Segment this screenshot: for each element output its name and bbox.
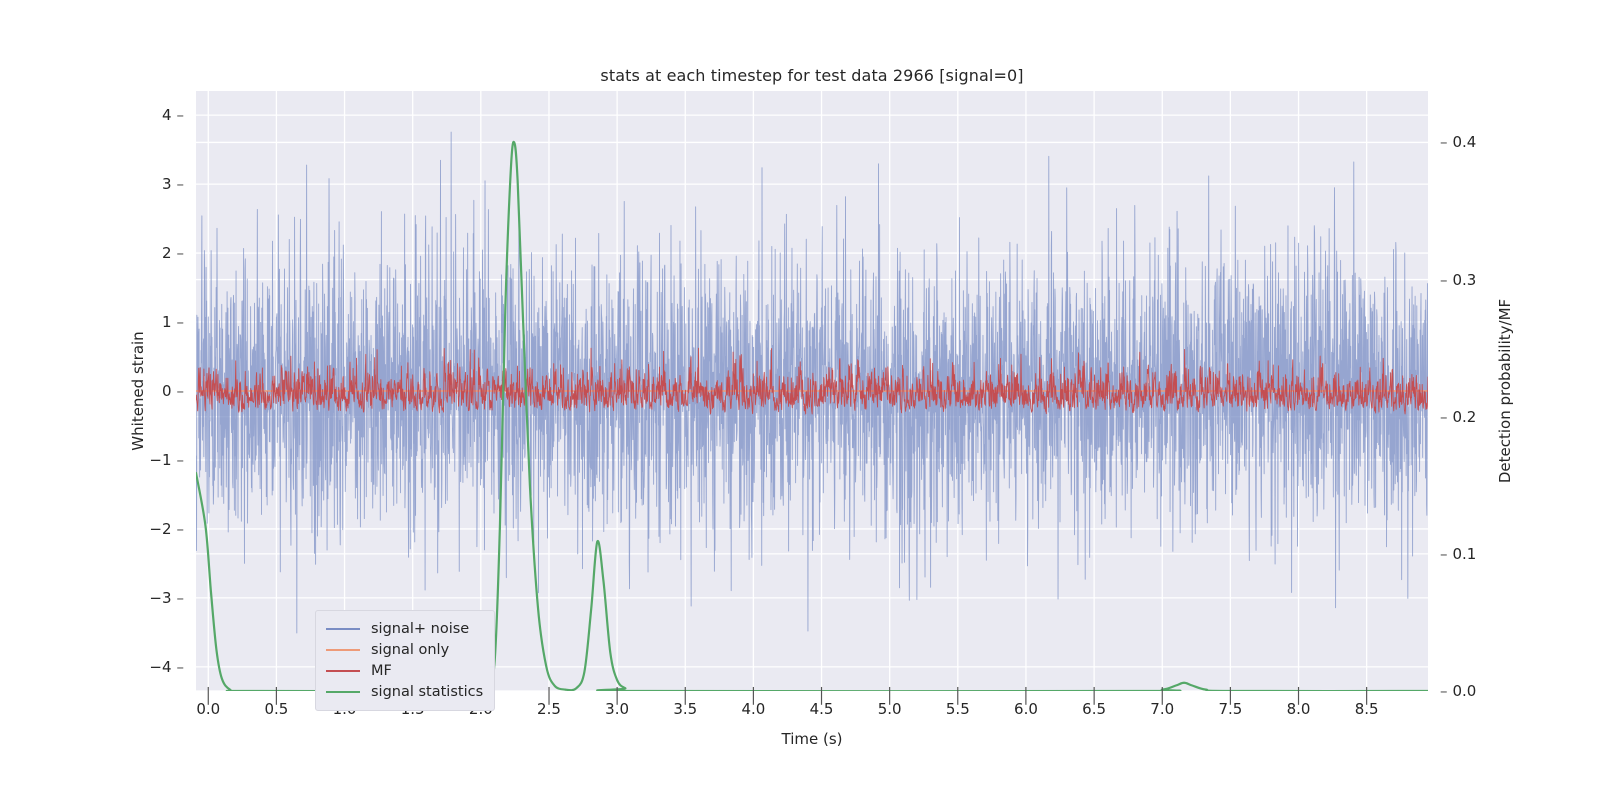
plot-svg	[196, 91, 1428, 691]
y-axis-right-label: Detection probability/MF	[1496, 299, 1514, 483]
y-axis-right-tick: –0.1	[1440, 545, 1500, 563]
legend-item[interactable]: signal+ noise	[326, 618, 482, 639]
x-axis-tick: │7.5	[1218, 693, 1242, 718]
legend-item[interactable]: signal only	[326, 639, 482, 660]
x-axis-tick: │0.0	[196, 693, 220, 718]
x-axis-tick: │4.0	[741, 693, 765, 718]
x-axis-tick: │5.5	[946, 693, 970, 718]
y-axis-left-tick: 2–	[124, 244, 184, 262]
x-axis-label: Time (s)	[196, 730, 1428, 748]
y-axis-left-label: Whitened strain	[129, 331, 147, 450]
y-axis-left-tick: −4–	[124, 658, 184, 676]
chart-legend[interactable]: signal+ noisesignal onlyMFsignal statist…	[315, 610, 495, 711]
y-axis-left-tick: 4–	[124, 106, 184, 124]
legend-label: signal only	[371, 642, 449, 658]
y-axis-left-tick: 3–	[124, 175, 184, 193]
x-axis-tick: │3.0	[605, 693, 629, 718]
x-axis-tick: │6.5	[1082, 693, 1106, 718]
x-axis-tick: │7.0	[1150, 693, 1174, 718]
page-title: stats at each timestep for test data 296…	[196, 66, 1428, 85]
y-axis-right-tick: –0.2	[1440, 408, 1500, 426]
y-axis-right-tick: –0.4	[1440, 133, 1500, 151]
y-axis-left-tick: −1–	[124, 451, 184, 469]
legend-color-swatch	[326, 670, 360, 672]
y-axis-right-tick: –0.0	[1440, 682, 1500, 700]
y-axis-left-tick: −2–	[124, 520, 184, 538]
y-axis-right-tick: –0.3	[1440, 271, 1500, 289]
legend-color-swatch	[326, 628, 360, 630]
x-axis-tick: │6.0	[1014, 693, 1038, 718]
plot-area[interactable]	[196, 91, 1428, 691]
x-axis-tick: │4.5	[810, 693, 834, 718]
legend-item[interactable]: MF	[326, 660, 482, 681]
x-axis-tick: │3.5	[673, 693, 697, 718]
legend-label: signal statistics	[371, 684, 483, 700]
x-axis-tick: │2.5	[537, 693, 561, 718]
legend-label: signal+ noise	[371, 621, 469, 637]
legend-color-swatch	[326, 691, 360, 693]
legend-color-swatch	[326, 649, 360, 651]
x-axis-tick: │8.0	[1287, 693, 1311, 718]
y-axis-left-tick: −3–	[124, 589, 184, 607]
legend-label: MF	[371, 663, 392, 679]
figure-canvas: stats at each timestep for test data 296…	[0, 0, 1600, 800]
legend-item[interactable]: signal statistics	[326, 681, 482, 702]
x-axis-tick: │5.0	[878, 693, 902, 718]
y-axis-left-tick: 1–	[124, 313, 184, 331]
x-axis-tick: │0.5	[264, 693, 288, 718]
x-axis-tick: │8.5	[1355, 693, 1379, 718]
